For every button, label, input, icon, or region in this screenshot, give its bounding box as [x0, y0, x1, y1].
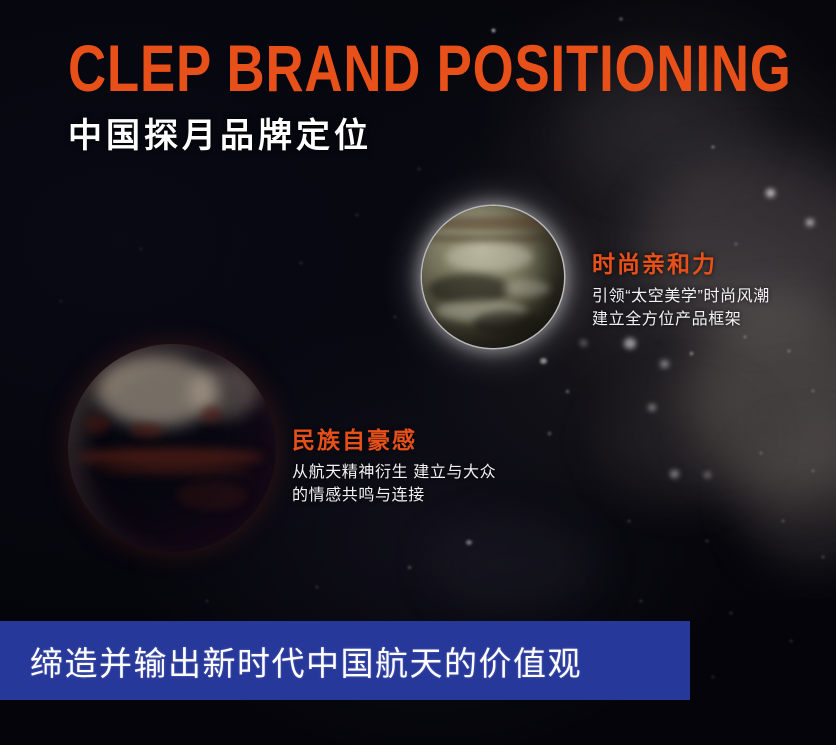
star — [822, 556, 824, 558]
callout-pride-heading: 民族自豪感 — [292, 426, 496, 454]
planet-band — [422, 217, 564, 230]
star — [670, 470, 679, 478]
star — [766, 189, 775, 197]
nebula-wisp — [740, 430, 836, 570]
star — [620, 18, 622, 20]
planet-highlight — [502, 280, 550, 297]
star — [356, 214, 358, 216]
star — [580, 340, 587, 346]
star — [640, 600, 642, 602]
callout-fashion-line2: 建立全方位产品框架 — [592, 308, 770, 331]
star — [624, 338, 636, 349]
star — [408, 566, 411, 569]
olive-planet-graphic — [422, 206, 564, 348]
star — [206, 600, 208, 602]
planet-highlight — [445, 243, 533, 271]
star — [300, 262, 302, 264]
planet-band — [76, 448, 263, 466]
callout-fashion-line1: 引领“太空美学”时尚风潮 — [592, 285, 770, 308]
planet-band — [97, 465, 251, 475]
star — [806, 219, 814, 226]
title-block: CLEP BRAND POSITIONING 中国探月品牌定位 — [68, 36, 836, 156]
star — [660, 360, 669, 368]
star — [744, 336, 746, 338]
star — [812, 390, 814, 392]
slide-canvas: CLEP BRAND POSITIONING 中国探月品牌定位 时尚亲和力 引领… — [0, 0, 836, 745]
planet-highlight — [189, 365, 260, 419]
star — [540, 358, 547, 364]
star — [628, 520, 630, 522]
planet-band — [422, 234, 564, 243]
star — [548, 432, 551, 435]
star — [712, 676, 714, 678]
star — [760, 452, 762, 454]
page-title: CLEP BRAND POSITIONING — [68, 36, 792, 100]
planet-surface-feature — [85, 415, 110, 434]
star — [788, 350, 790, 352]
planet-surface-feature — [201, 406, 222, 423]
planet-surface-feature — [176, 481, 247, 510]
star — [60, 300, 62, 302]
page-subtitle: 中国探月品牌定位 — [68, 116, 836, 156]
star — [782, 520, 784, 522]
star — [648, 404, 656, 411]
callout-fashion: 时尚亲和力 引领“太空美学”时尚风潮 建立全方位产品框架 — [592, 250, 770, 331]
star — [706, 540, 708, 542]
star — [418, 168, 420, 170]
planet-surface-feature — [130, 423, 163, 438]
nebula-wisp — [600, 380, 760, 500]
star — [735, 243, 737, 245]
star — [140, 248, 142, 250]
callout-pride: 民族自豪感 从航天精神衍生 建立与大众 的情感共鸣与连接 — [292, 426, 496, 507]
star — [690, 352, 693, 355]
callout-pride-line1: 从航天精神衍生 建立与大众 — [292, 461, 496, 484]
bottom-banner: 缔造并输出新时代中国航天的价值观 — [0, 621, 690, 700]
callout-fashion-heading: 时尚亲和力 — [592, 250, 770, 278]
nebula-wisp — [430, 520, 600, 610]
planet-shadow-patch — [473, 311, 541, 337]
star — [730, 612, 732, 614]
star — [394, 316, 396, 318]
callout-pride-line2: 的情感共鸣与连接 — [292, 484, 496, 507]
star — [566, 390, 569, 393]
star — [316, 586, 318, 588]
star — [790, 640, 792, 642]
star — [466, 540, 472, 545]
star — [812, 470, 814, 472]
mars-planet-graphic — [68, 344, 276, 552]
bottom-banner-text: 缔造并输出新时代中国航天的价值观 — [30, 637, 582, 685]
star — [704, 472, 711, 478]
